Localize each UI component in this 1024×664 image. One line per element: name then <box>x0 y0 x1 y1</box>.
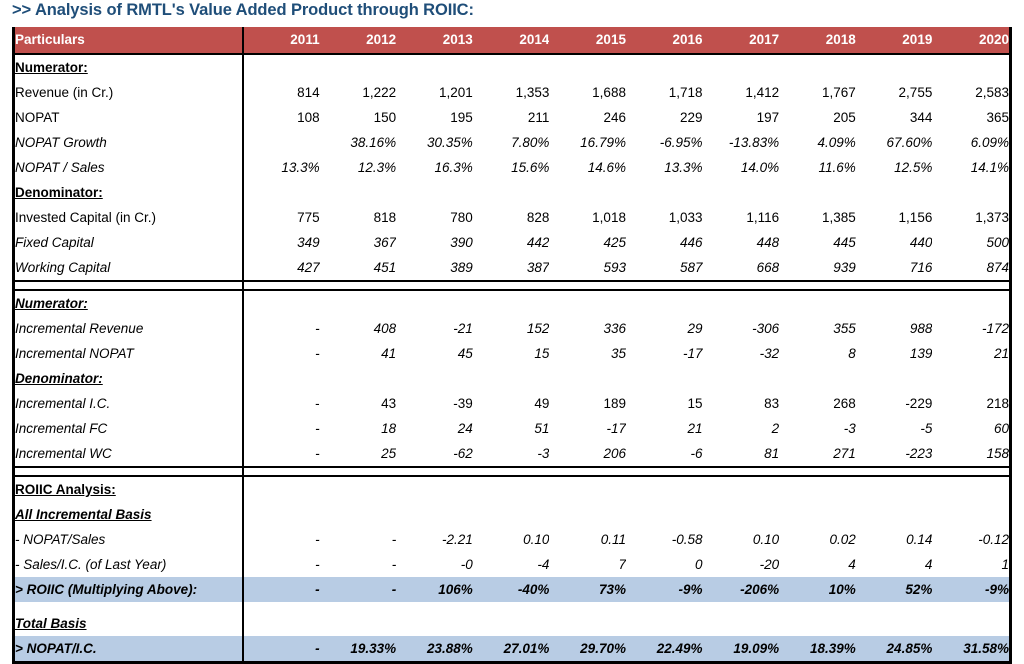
column-header-2013: 2013 <box>396 27 473 54</box>
row-label-roiic-analysis: ROIIC Analysis: <box>15 476 243 502</box>
cell-revenue-2017: 1,412 <box>703 80 780 105</box>
cell-incremental-revenue-2019: 988 <box>856 316 933 341</box>
cell-roiic-multiplying-2018: 10% <box>779 577 856 602</box>
cell-roiic-multiplying-2012: - <box>320 577 397 602</box>
cell-inc-nopat-sales-2015: 0.11 <box>549 527 626 552</box>
cell-all-incremental-basis-2020 <box>932 502 1009 527</box>
table-row: > ROIIC (Multiplying Above):--106%-40%73… <box>15 577 1009 602</box>
cell-denominator-2-2011 <box>243 366 320 391</box>
cell-inc-nopat-sales-2016: -0.58 <box>626 527 703 552</box>
cell-denominator-1-2011 <box>243 180 320 205</box>
row-label-inc-sales-ic: - Sales/I.C. (of Last Year) <box>15 552 243 577</box>
cell-total-basis-2015 <box>549 611 626 636</box>
cell-roiic-multiplying-2019: 52% <box>856 577 933 602</box>
cell-numerator-2-2015 <box>549 290 626 316</box>
cell-nopat-ic-2020: 31.58% <box>932 636 1009 661</box>
roiic-analysis-table: Particulars 2011 2012 2013 2014 2015 201… <box>12 27 1012 664</box>
cell-numerator-1-2015 <box>549 54 626 80</box>
cell-nopat-growth-2012: 38.16% <box>320 130 397 155</box>
cell-incremental-nopat-2019: 139 <box>856 341 933 366</box>
cell-invested-capital-2017: 1,116 <box>703 205 780 230</box>
cell-fixed-capital-2020: 500 <box>932 230 1009 255</box>
cell-fixed-capital-2018: 445 <box>779 230 856 255</box>
table-row: Incremental FC-182451-17212-3-560 <box>15 416 1009 441</box>
spacer-value-cell <box>779 602 856 611</box>
spacer-value-cell <box>856 602 933 611</box>
cell-inc-nopat-sales-2020: -0.12 <box>932 527 1009 552</box>
cell-nopat-ic-2013: 23.88% <box>396 636 473 661</box>
cell-incremental-wc-2016: -6 <box>626 441 703 467</box>
cell-incremental-wc-2013: -62 <box>396 441 473 467</box>
cell-inc-sales-ic-2017: -20 <box>703 552 780 577</box>
cell-fixed-capital-2012: 367 <box>320 230 397 255</box>
table-row: Numerator: <box>15 54 1009 80</box>
row-label-nopat-ic: > NOPAT/I.C. <box>15 636 243 661</box>
column-header-2016: 2016 <box>626 27 703 54</box>
cell-roiic-analysis-2011 <box>243 476 320 502</box>
cell-numerator-1-2020 <box>932 54 1009 80</box>
cell-incremental-wc-2012: 25 <box>320 441 397 467</box>
table-row: Incremental I.C.-43-39491891583268-22921… <box>15 391 1009 416</box>
cell-incremental-nopat-2012: 41 <box>320 341 397 366</box>
table-row: Denominator: <box>15 366 1009 391</box>
cell-incremental-ic-2011: - <box>243 391 320 416</box>
cell-numerator-2-2014 <box>473 290 550 316</box>
table-header: Particulars 2011 2012 2013 2014 2015 201… <box>15 27 1009 54</box>
cell-working-capital-2013: 389 <box>396 255 473 281</box>
cell-invested-capital-2016: 1,033 <box>626 205 703 230</box>
cell-all-incremental-basis-2011 <box>243 502 320 527</box>
cell-incremental-wc-2011: - <box>243 441 320 467</box>
cell-invested-capital-2013: 780 <box>396 205 473 230</box>
cell-incremental-fc-2014: 51 <box>473 416 550 441</box>
cell-working-capital-2020: 874 <box>932 255 1009 281</box>
cell-incremental-fc-2013: 24 <box>396 416 473 441</box>
cell-fixed-capital-2016: 446 <box>626 230 703 255</box>
cell-all-incremental-basis-2012 <box>320 502 397 527</box>
cell-incremental-revenue-2014: 152 <box>473 316 550 341</box>
cell-incremental-wc-2015: 206 <box>549 441 626 467</box>
cell-all-incremental-basis-2014 <box>473 502 550 527</box>
cell-invested-capital-2018: 1,385 <box>779 205 856 230</box>
cell-incremental-ic-2018: 268 <box>779 391 856 416</box>
cell-numerator-1-2013 <box>396 54 473 80</box>
cell-incremental-wc-2020: 158 <box>932 441 1009 467</box>
cell-fixed-capital-2014: 442 <box>473 230 550 255</box>
cell-incremental-revenue-2013: -21 <box>396 316 473 341</box>
cell-nopat-growth-2013: 30.35% <box>396 130 473 155</box>
cell-nopat-sales-2017: 14.0% <box>703 155 780 180</box>
cell-inc-nopat-sales-2019: 0.14 <box>856 527 933 552</box>
spacer-value-cell <box>549 602 626 611</box>
data-table: Particulars 2011 2012 2013 2014 2015 201… <box>15 27 1009 661</box>
row-label-numerator-1: Numerator: <box>15 54 243 80</box>
cell-numerator-2-2016 <box>626 290 703 316</box>
cell-incremental-nopat-2016: -17 <box>626 341 703 366</box>
cell-incremental-revenue-2012: 408 <box>320 316 397 341</box>
cell-roiic-analysis-2017 <box>703 476 780 502</box>
cell-denominator-1-2013 <box>396 180 473 205</box>
cell-incremental-ic-2014: 49 <box>473 391 550 416</box>
section-separator-label-cell <box>15 467 243 476</box>
row-label-incremental-ic: Incremental I.C. <box>15 391 243 416</box>
cell-incremental-nopat-2018: 8 <box>779 341 856 366</box>
cell-inc-sales-ic-2011: - <box>243 552 320 577</box>
cell-nopat-ic-2012: 19.33% <box>320 636 397 661</box>
cell-numerator-2-2019 <box>856 290 933 316</box>
spacer-value-cell <box>626 602 703 611</box>
cell-inc-sales-ic-2019: 4 <box>856 552 933 577</box>
table-row: ROIIC Analysis: <box>15 476 1009 502</box>
cell-incremental-fc-2020: 60 <box>932 416 1009 441</box>
cell-invested-capital-2015: 1,018 <box>549 205 626 230</box>
cell-incremental-fc-2011: - <box>243 416 320 441</box>
cell-roiic-analysis-2019 <box>856 476 933 502</box>
cell-numerator-2-2012 <box>320 290 397 316</box>
cell-incremental-ic-2015: 189 <box>549 391 626 416</box>
table-row: Fixed Capital349367390442425446448445440… <box>15 230 1009 255</box>
table-row: NOPAT Growth38.16%30.35%7.80%16.79%-6.95… <box>15 130 1009 155</box>
row-label-incremental-revenue: Incremental Revenue <box>15 316 243 341</box>
section-separator-value-cell <box>243 467 1009 476</box>
cell-roiic-analysis-2012 <box>320 476 397 502</box>
cell-working-capital-2018: 939 <box>779 255 856 281</box>
cell-nopat-2014: 211 <box>473 105 550 130</box>
cell-working-capital-2015: 593 <box>549 255 626 281</box>
cell-inc-sales-ic-2012: - <box>320 552 397 577</box>
page-title: >> Analysis of RMTL's Value Added Produc… <box>12 1 474 20</box>
cell-denominator-1-2019 <box>856 180 933 205</box>
cell-incremental-nopat-2020: 21 <box>932 341 1009 366</box>
cell-roiic-analysis-2020 <box>932 476 1009 502</box>
section-separator-after-working-capital <box>15 281 1009 290</box>
cell-incremental-ic-2019: -229 <box>856 391 933 416</box>
column-header-2017: 2017 <box>703 27 780 54</box>
cell-revenue-2020: 2,583 <box>932 80 1009 105</box>
row-label-denominator-2: Denominator: <box>15 366 243 391</box>
cell-fixed-capital-2015: 425 <box>549 230 626 255</box>
cell-incremental-revenue-2020: -172 <box>932 316 1009 341</box>
cell-revenue-2019: 2,755 <box>856 80 933 105</box>
cell-all-incremental-basis-2013 <box>396 502 473 527</box>
table-row: Numerator: <box>15 290 1009 316</box>
cell-roiic-analysis-2018 <box>779 476 856 502</box>
cell-all-incremental-basis-2017 <box>703 502 780 527</box>
cell-roiic-multiplying-2017: -206% <box>703 577 780 602</box>
cell-nopat-growth-2017: -13.83% <box>703 130 780 155</box>
cell-incremental-wc-2019: -223 <box>856 441 933 467</box>
cell-inc-sales-ic-2014: -4 <box>473 552 550 577</box>
cell-nopat-ic-2017: 19.09% <box>703 636 780 661</box>
row-label-revenue: Revenue (in Cr.) <box>15 80 243 105</box>
cell-denominator-1-2015 <box>549 180 626 205</box>
table-row: Incremental NOPAT-41451535-17-32813921 <box>15 341 1009 366</box>
cell-revenue-2012: 1,222 <box>320 80 397 105</box>
cell-numerator-1-2018 <box>779 54 856 80</box>
cell-nopat-ic-2018: 18.39% <box>779 636 856 661</box>
cell-numerator-1-2019 <box>856 54 933 80</box>
cell-nopat-growth-2014: 7.80% <box>473 130 550 155</box>
cell-invested-capital-2014: 828 <box>473 205 550 230</box>
cell-incremental-wc-2018: 271 <box>779 441 856 467</box>
cell-incremental-ic-2017: 83 <box>703 391 780 416</box>
cell-nopat-sales-2012: 12.3% <box>320 155 397 180</box>
cell-nopat-2019: 344 <box>856 105 933 130</box>
row-label-nopat: NOPAT <box>15 105 243 130</box>
spacer-after-roiic-multiplying <box>15 602 1009 611</box>
cell-denominator-1-2018 <box>779 180 856 205</box>
cell-incremental-ic-2020: 218 <box>932 391 1009 416</box>
table-row: > NOPAT/I.C.-19.33%23.88%27.01%29.70%22.… <box>15 636 1009 661</box>
table-row: NOPAT108150195211246229197205344365 <box>15 105 1009 130</box>
cell-inc-nopat-sales-2017: 0.10 <box>703 527 780 552</box>
spacer-value-cell <box>396 602 473 611</box>
cell-nopat-growth-2019: 67.60% <box>856 130 933 155</box>
cell-nopat-growth-2018: 4.09% <box>779 130 856 155</box>
row-label-fixed-capital: Fixed Capital <box>15 230 243 255</box>
cell-numerator-1-2014 <box>473 54 550 80</box>
cell-denominator-1-2020 <box>932 180 1009 205</box>
cell-nopat-ic-2019: 24.85% <box>856 636 933 661</box>
row-label-inc-nopat-sales: - NOPAT/Sales <box>15 527 243 552</box>
cell-denominator-1-2017 <box>703 180 780 205</box>
section-separator-value-cell <box>243 281 1009 290</box>
cell-roiic-multiplying-2013: 106% <box>396 577 473 602</box>
row-label-nopat-sales: NOPAT / Sales <box>15 155 243 180</box>
cell-nopat-ic-2015: 29.70% <box>549 636 626 661</box>
cell-nopat-2012: 150 <box>320 105 397 130</box>
row-label-roiic-multiplying: > ROIIC (Multiplying Above): <box>15 577 243 602</box>
cell-invested-capital-2012: 818 <box>320 205 397 230</box>
header-row: Particulars 2011 2012 2013 2014 2015 201… <box>15 27 1009 54</box>
cell-numerator-2-2013 <box>396 290 473 316</box>
cell-denominator-1-2014 <box>473 180 550 205</box>
cell-inc-sales-ic-2016: 0 <box>626 552 703 577</box>
cell-roiic-analysis-2015 <box>549 476 626 502</box>
cell-incremental-fc-2015: -17 <box>549 416 626 441</box>
cell-roiic-multiplying-2014: -40% <box>473 577 550 602</box>
column-header-particulars: Particulars <box>15 27 243 54</box>
cell-working-capital-2012: 451 <box>320 255 397 281</box>
column-header-2019: 2019 <box>856 27 933 54</box>
cell-working-capital-2014: 387 <box>473 255 550 281</box>
cell-inc-sales-ic-2020: 1 <box>932 552 1009 577</box>
cell-incremental-revenue-2017: -306 <box>703 316 780 341</box>
cell-incremental-fc-2016: 21 <box>626 416 703 441</box>
cell-denominator-2-2016 <box>626 366 703 391</box>
cell-total-basis-2018 <box>779 611 856 636</box>
cell-revenue-2018: 1,767 <box>779 80 856 105</box>
cell-incremental-revenue-2016: 29 <box>626 316 703 341</box>
cell-incremental-fc-2017: 2 <box>703 416 780 441</box>
table-row: Revenue (in Cr.)8141,2221,2011,3531,6881… <box>15 80 1009 105</box>
cell-denominator-2-2017 <box>703 366 780 391</box>
cell-incremental-nopat-2014: 15 <box>473 341 550 366</box>
spacer-value-cell <box>320 602 397 611</box>
cell-nopat-2017: 197 <box>703 105 780 130</box>
cell-total-basis-2017 <box>703 611 780 636</box>
table-row: All Incremental Basis <box>15 502 1009 527</box>
cell-revenue-2011: 814 <box>243 80 320 105</box>
cell-roiic-multiplying-2016: -9% <box>626 577 703 602</box>
cell-working-capital-2011: 427 <box>243 255 320 281</box>
cell-nopat-sales-2015: 14.6% <box>549 155 626 180</box>
cell-incremental-ic-2013: -39 <box>396 391 473 416</box>
cell-fixed-capital-2017: 448 <box>703 230 780 255</box>
table-row: Invested Capital (in Cr.)7758187808281,0… <box>15 205 1009 230</box>
cell-incremental-revenue-2011: - <box>243 316 320 341</box>
cell-nopat-ic-2016: 22.49% <box>626 636 703 661</box>
cell-numerator-2-2020 <box>932 290 1009 316</box>
cell-incremental-ic-2016: 15 <box>626 391 703 416</box>
cell-fixed-capital-2019: 440 <box>856 230 933 255</box>
cell-nopat-growth-2016: -6.95% <box>626 130 703 155</box>
column-header-2018: 2018 <box>779 27 856 54</box>
cell-revenue-2013: 1,201 <box>396 80 473 105</box>
cell-working-capital-2017: 668 <box>703 255 780 281</box>
row-label-nopat-growth: NOPAT Growth <box>15 130 243 155</box>
cell-incremental-nopat-2017: -32 <box>703 341 780 366</box>
cell-revenue-2014: 1,353 <box>473 80 550 105</box>
cell-inc-sales-ic-2013: -0 <box>396 552 473 577</box>
cell-inc-nopat-sales-2011: - <box>243 527 320 552</box>
spacer-value-cell <box>243 602 320 611</box>
row-label-total-basis: Total Basis <box>15 611 243 636</box>
cell-incremental-ic-2012: 43 <box>320 391 397 416</box>
cell-incremental-wc-2014: -3 <box>473 441 550 467</box>
cell-denominator-1-2016 <box>626 180 703 205</box>
cell-all-incremental-basis-2018 <box>779 502 856 527</box>
cell-all-incremental-basis-2019 <box>856 502 933 527</box>
cell-incremental-revenue-2018: 355 <box>779 316 856 341</box>
column-header-2011: 2011 <box>243 27 320 54</box>
cell-total-basis-2013 <box>396 611 473 636</box>
cell-roiic-multiplying-2020: -9% <box>932 577 1009 602</box>
cell-nopat-sales-2013: 16.3% <box>396 155 473 180</box>
cell-numerator-1-2011 <box>243 54 320 80</box>
spacer-label-cell <box>15 602 243 611</box>
cell-nopat-ic-2011: - <box>243 636 320 661</box>
cell-roiic-multiplying-2015: 73% <box>549 577 626 602</box>
cell-denominator-2-2012 <box>320 366 397 391</box>
cell-nopat-growth-2015: 16.79% <box>549 130 626 155</box>
row-label-incremental-fc: Incremental FC <box>15 416 243 441</box>
cell-incremental-nopat-2013: 45 <box>396 341 473 366</box>
cell-incremental-fc-2019: -5 <box>856 416 933 441</box>
cell-fixed-capital-2013: 390 <box>396 230 473 255</box>
cell-revenue-2015: 1,688 <box>549 80 626 105</box>
cell-denominator-2-2015 <box>549 366 626 391</box>
spacer-value-cell <box>473 602 550 611</box>
cell-roiic-analysis-2016 <box>626 476 703 502</box>
cell-nopat-sales-2016: 13.3% <box>626 155 703 180</box>
cell-incremental-revenue-2015: 336 <box>549 316 626 341</box>
cell-nopat-sales-2011: 13.3% <box>243 155 320 180</box>
cell-incremental-nopat-2015: 35 <box>549 341 626 366</box>
cell-inc-nopat-sales-2018: 0.02 <box>779 527 856 552</box>
table-row: Total Basis <box>15 611 1009 636</box>
cell-inc-nopat-sales-2014: 0.10 <box>473 527 550 552</box>
cell-numerator-1-2017 <box>703 54 780 80</box>
cell-nopat-2015: 246 <box>549 105 626 130</box>
column-header-2012: 2012 <box>320 27 397 54</box>
cell-nopat-growth-2011 <box>243 130 320 155</box>
section-separator-after-incremental-wc <box>15 467 1009 476</box>
cell-nopat-2011: 108 <box>243 105 320 130</box>
cell-nopat-2020: 365 <box>932 105 1009 130</box>
section-separator-label-cell <box>15 281 243 290</box>
table-body: Numerator:Revenue (in Cr.)8141,2221,2011… <box>15 54 1009 661</box>
column-header-2020: 2020 <box>932 27 1009 54</box>
cell-incremental-fc-2018: -3 <box>779 416 856 441</box>
spacer-value-cell <box>703 602 780 611</box>
cell-inc-nopat-sales-2012: - <box>320 527 397 552</box>
table-row: Working Capital4274513893875935876689397… <box>15 255 1009 281</box>
cell-inc-sales-ic-2018: 4 <box>779 552 856 577</box>
row-label-working-capital: Working Capital <box>15 255 243 281</box>
cell-nopat-sales-2014: 15.6% <box>473 155 550 180</box>
row-label-invested-capital: Invested Capital (in Cr.) <box>15 205 243 230</box>
cell-total-basis-2014 <box>473 611 550 636</box>
cell-numerator-1-2012 <box>320 54 397 80</box>
table-row: NOPAT / Sales13.3%12.3%16.3%15.6%14.6%13… <box>15 155 1009 180</box>
screenshot-root: >> Analysis of RMTL's Value Added Produc… <box>0 0 1024 621</box>
column-header-2014: 2014 <box>473 27 550 54</box>
row-label-incremental-nopat: Incremental NOPAT <box>15 341 243 366</box>
cell-total-basis-2012 <box>320 611 397 636</box>
cell-total-basis-2020 <box>932 611 1009 636</box>
cell-incremental-fc-2012: 18 <box>320 416 397 441</box>
cell-all-incremental-basis-2015 <box>549 502 626 527</box>
cell-working-capital-2019: 716 <box>856 255 933 281</box>
cell-nopat-sales-2020: 14.1% <box>932 155 1009 180</box>
row-label-denominator-1: Denominator: <box>15 180 243 205</box>
cell-all-incremental-basis-2016 <box>626 502 703 527</box>
row-label-incremental-wc: Incremental WC <box>15 441 243 467</box>
cell-roiic-analysis-2014 <box>473 476 550 502</box>
table-row: - NOPAT/Sales---2.210.100.11-0.580.100.0… <box>15 527 1009 552</box>
table-row: Denominator: <box>15 180 1009 205</box>
cell-nopat-sales-2019: 12.5% <box>856 155 933 180</box>
cell-fixed-capital-2011: 349 <box>243 230 320 255</box>
cell-denominator-2-2018 <box>779 366 856 391</box>
row-label-all-incremental-basis: All Incremental Basis <box>15 502 243 527</box>
cell-inc-sales-ic-2015: 7 <box>549 552 626 577</box>
spacer-value-cell <box>932 602 1009 611</box>
cell-nopat-ic-2014: 27.01% <box>473 636 550 661</box>
cell-revenue-2016: 1,718 <box>626 80 703 105</box>
table-row: Incremental WC-25-62-3206-681271-223158 <box>15 441 1009 467</box>
cell-working-capital-2016: 587 <box>626 255 703 281</box>
cell-invested-capital-2020: 1,373 <box>932 205 1009 230</box>
cell-inc-nopat-sales-2013: -2.21 <box>396 527 473 552</box>
cell-nopat-2018: 205 <box>779 105 856 130</box>
cell-incremental-wc-2017: 81 <box>703 441 780 467</box>
cell-denominator-2-2014 <box>473 366 550 391</box>
cell-total-basis-2016 <box>626 611 703 636</box>
cell-numerator-2-2018 <box>779 290 856 316</box>
cell-incremental-nopat-2011: - <box>243 341 320 366</box>
table-row: Incremental Revenue-408-2115233629-30635… <box>15 316 1009 341</box>
cell-nopat-2013: 195 <box>396 105 473 130</box>
cell-roiic-multiplying-2011: - <box>243 577 320 602</box>
row-label-numerator-2: Numerator: <box>15 290 243 316</box>
cell-denominator-2-2020 <box>932 366 1009 391</box>
cell-nopat-2016: 229 <box>626 105 703 130</box>
cell-denominator-1-2012 <box>320 180 397 205</box>
cell-invested-capital-2019: 1,156 <box>856 205 933 230</box>
cell-nopat-sales-2018: 11.6% <box>779 155 856 180</box>
